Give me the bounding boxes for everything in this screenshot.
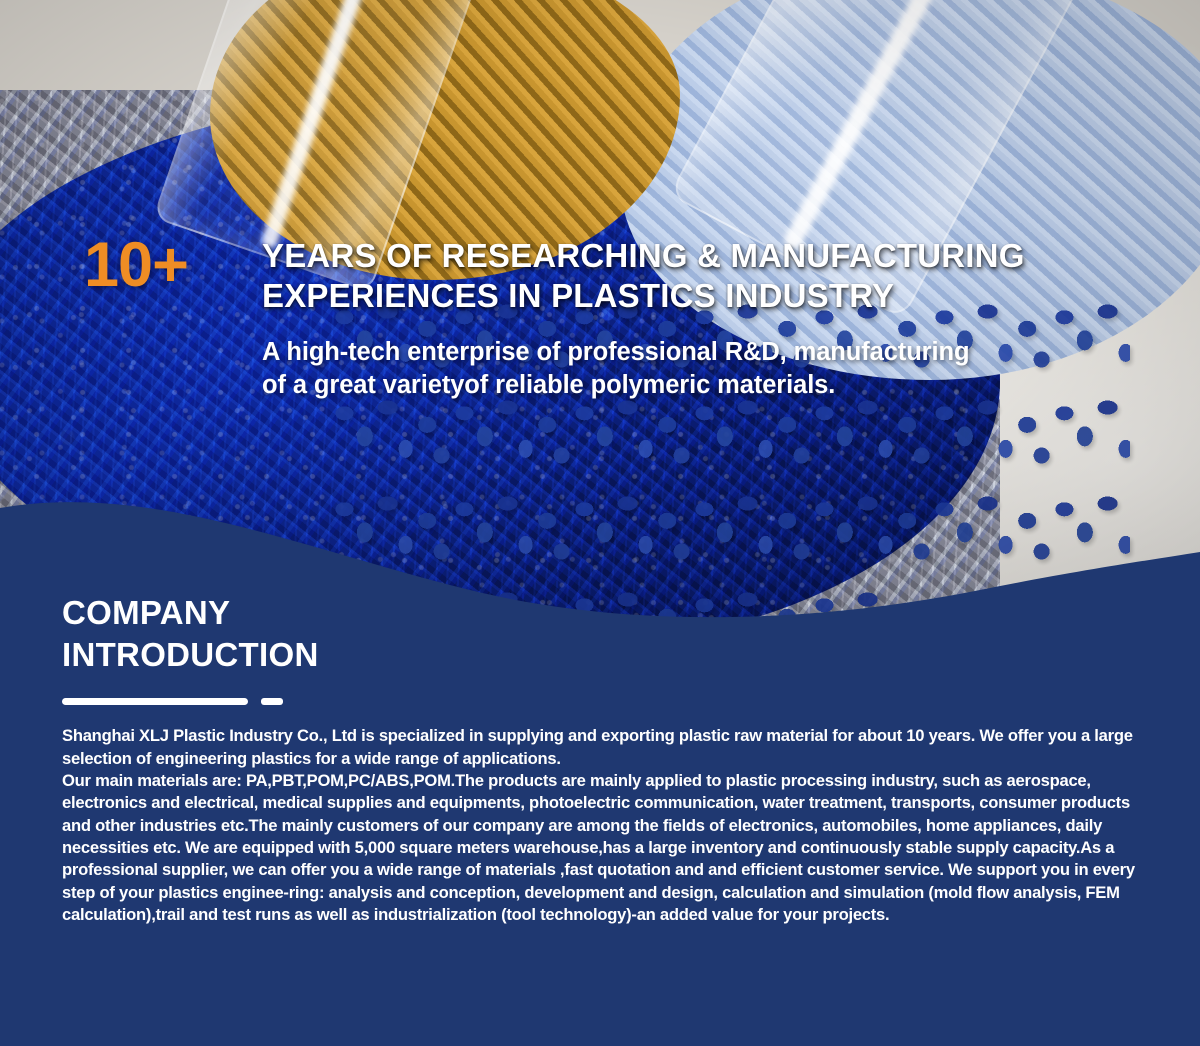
section-title-line-1: COMPANY xyxy=(62,592,1152,634)
introduction-body-copy: Shanghai XLJ Plastic Industry Co., Ltd i… xyxy=(62,725,1152,926)
introduction-paragraph-2: Our main materials are: PA,PBT,POM,PC/AB… xyxy=(62,770,1152,926)
company-introduction-page: 10+ YEARS OF RESEARCHING & MANUFACTURING… xyxy=(0,0,1200,1046)
title-divider xyxy=(62,698,1152,705)
section-title: COMPANY INTRODUCTION xyxy=(62,592,1152,676)
divider-short-bar xyxy=(261,698,283,705)
introduction-paragraph-1: Shanghai XLJ Plastic Industry Co., Ltd i… xyxy=(62,725,1152,770)
divider-long-bar xyxy=(62,698,248,705)
company-introduction-section: COMPANY INTRODUCTION Shanghai XLJ Plasti… xyxy=(62,592,1152,926)
section-title-line-2: INTRODUCTION xyxy=(62,634,1152,676)
